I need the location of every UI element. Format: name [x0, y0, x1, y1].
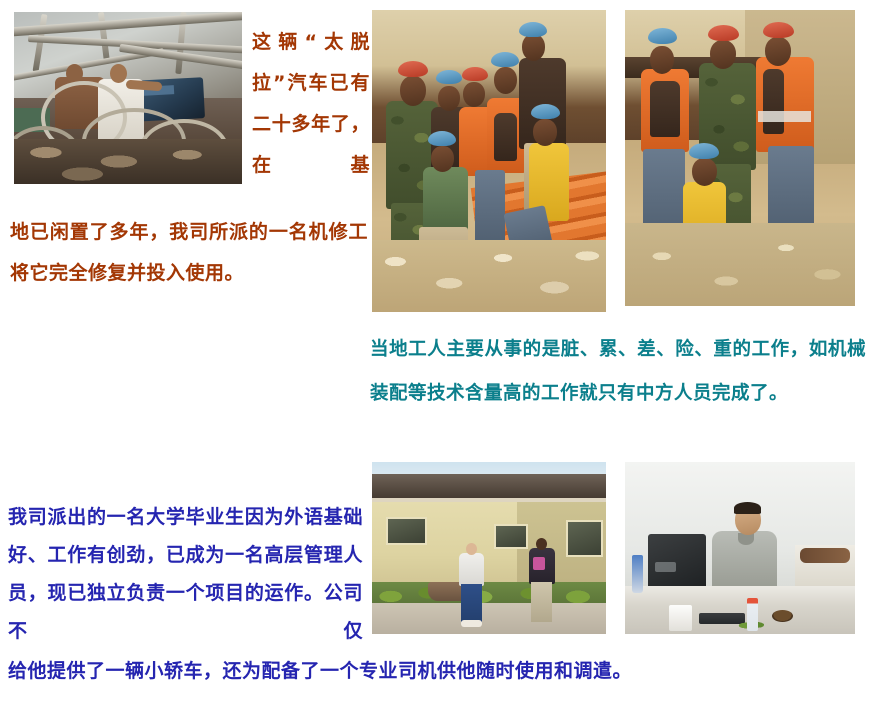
caption-blue-column: 我司派出的一名大学毕业生因为外语基础好、工作有创劲，已成为一名高层管理人员，现已…	[8, 498, 363, 650]
caption-blue-last-line: 给他提供了一辆小轿车，还为配备了一个专业司机供他随时使用和调遣。	[8, 652, 808, 690]
caption-red-wide: 地已闲置了多年，我司所派的一名机修工将它完全修复并投入使用。	[10, 212, 368, 294]
photo-crew-sitting	[372, 10, 606, 312]
photo-house-exterior	[372, 462, 606, 634]
document-page: 这辆“太脱拉”汽车已有二十多年了，在基 地已闲置了多年，我司所派的一名机修工将它…	[0, 0, 873, 701]
caption-teal: 当地工人主要从事的是脏、累、差、险、重的工作，如机械装配等技术含量高的工作就只有…	[370, 328, 866, 416]
photo-crew-standing	[625, 10, 855, 306]
photo-office-desk	[625, 462, 855, 634]
caption-red-column: 这辆“太脱拉”汽车已有二十多年了，在基	[252, 22, 370, 186]
photo-truck-repair	[14, 12, 242, 184]
